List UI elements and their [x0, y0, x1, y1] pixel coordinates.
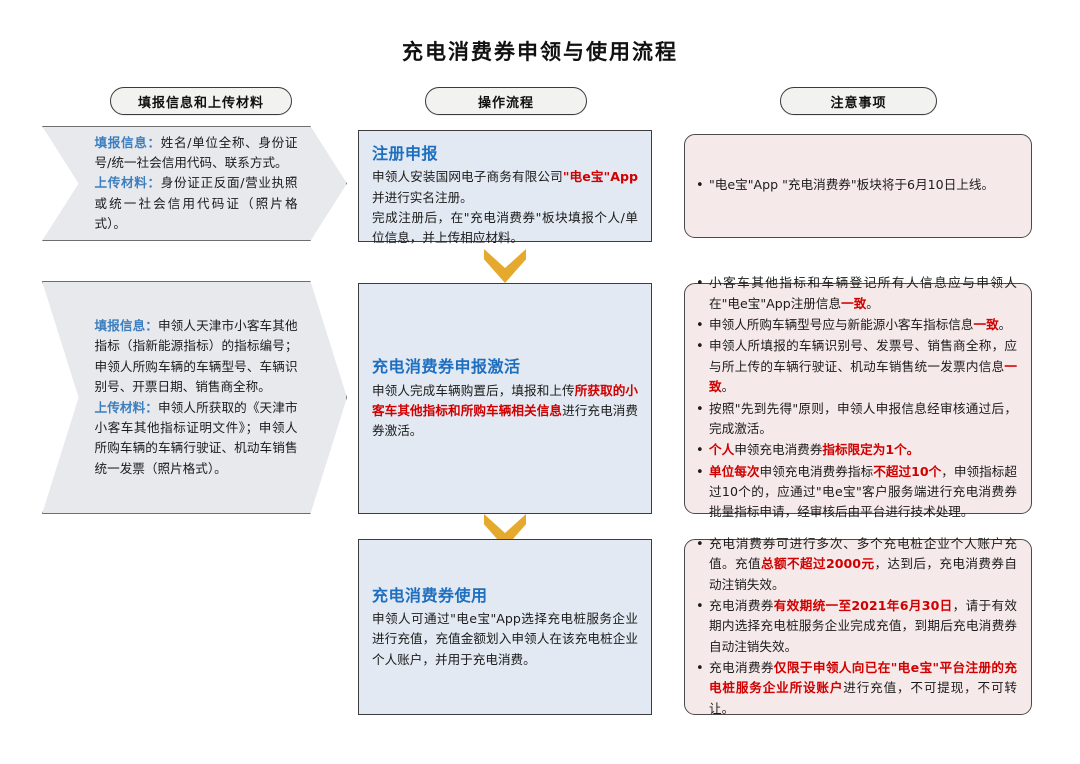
process-body-2-part-a: 申领人完成车辆购置后，填报和上传 — [372, 383, 575, 398]
note-text: 按照"先到先得"原则，申领人申报信息经审核通过后，完成激活。 — [709, 401, 1017, 436]
note-bullet: 充电消费券可进行多次、多个充电桩企业个人账户充值。充值总额不超过2000元，达到… — [695, 534, 1017, 595]
note-text: 充电消费券 — [709, 598, 774, 613]
note-highlight: 一致 — [841, 296, 866, 311]
note-highlight: 一致 — [973, 317, 998, 332]
process-box-activate: 充电消费券申报激活 申领人完成车辆购置后，填报和上传所获取的小客车其他指标和所购… — [358, 283, 652, 514]
note-highlight: 不超过10个 — [873, 464, 941, 479]
process-title-1: 注册申报 — [372, 142, 638, 165]
note-bullet: "电e宝"App "充电消费券"板块将于6月10日上线。 — [695, 175, 1017, 195]
upload-material-label-2: 上传材料： — [95, 400, 158, 415]
note-text: 。 — [866, 296, 879, 311]
column-header-right: 注意事项 — [780, 87, 937, 115]
note-box-2: 小客车其他指标和车辆登记所有人信息应与申领人在"电e宝"App注册信息一致。申领… — [684, 283, 1032, 514]
note-text: 申领人所购车辆型号应与新能源小客车指标信息 — [709, 317, 973, 332]
note-highlight: 有效期统一至2021年6月30日 — [774, 598, 953, 613]
note-text: "电e宝"App "充电消费券"板块将于6月10日上线。 — [709, 177, 994, 192]
note-text: 申领人所填报的车辆识别号、发票号、销售商全称，应与所上传的车辆行驶证、机动车销售… — [709, 338, 1017, 373]
note-bullet: 个人申领充电消费券指标限定为1个。 — [695, 440, 1017, 460]
column-header-left: 填报信息和上传材料 — [110, 87, 292, 115]
process-body-2: 申领人完成车辆购置后，填报和上传所获取的小客车其他指标和所购车辆相关信息进行充电… — [372, 381, 638, 442]
process-body-1-part-b: 并进行实名注册。 — [372, 190, 473, 205]
process-body-1-part-a: 申领人安装国网电子商务有限公司 — [372, 169, 563, 184]
left-chevron-step-1: 填报信息：姓名/单位全称、身份证号/统一社会信用代码、联系方式。 上传材料：身份… — [42, 126, 347, 241]
note-bullet: 小客车其他指标和车辆登记所有人信息应与申领人在"电e宝"App注册信息一致。 — [695, 273, 1017, 314]
note-bullet: 单位每次申领充电消费券指标不超过10个，申领指标超过10个的，应通过"电e宝"客… — [695, 462, 1017, 523]
note-list-1: "电e宝"App "充电消费券"板块将于6月10日上线。 — [695, 175, 1017, 196]
note-highlight: 总额不超过2000元 — [761, 556, 874, 571]
process-body-3: 申领人可通过"电e宝"App选择充电桩服务企业进行充值，充值金额划入申领人在该充… — [372, 609, 638, 670]
note-list-2: 小客车其他指标和车辆登记所有人信息应与申领人在"电e宝"App注册信息一致。申领… — [695, 273, 1017, 524]
process-body-1: 申领人安装国网电子商务有限公司"电e宝"App并进行实名注册。 完成注册后，在"… — [372, 167, 638, 249]
column-header-center: 操作流程 — [425, 87, 587, 115]
note-box-3: 充电消费券可进行多次、多个充电桩企业个人账户充值。充值总额不超过2000元，达到… — [684, 539, 1032, 715]
note-box-1: "电e宝"App "充电消费券"板块将于6月10日上线。 — [684, 134, 1032, 238]
process-body-1-highlight: "电e宝"App — [563, 169, 638, 184]
note-bullet: 充电消费券仅限于申领人向已在"电e宝"平台注册的充电桩服务企业所设账户进行充值，… — [695, 658, 1017, 719]
note-text: 。 — [722, 379, 735, 394]
left-chevron-step-1-text: 填报信息：姓名/单位全称、身份证号/统一社会信用代码、联系方式。 上传材料：身份… — [43, 133, 346, 235]
note-text: 申领充电消费券指标 — [760, 464, 874, 479]
note-highlight: 指标限定为1个。 — [822, 442, 919, 457]
flowchart-page: 充电消费券申领与使用流程 填报信息和上传材料 操作流程 注意事项 填报信息：姓名… — [0, 0, 1080, 764]
note-list-3: 充电消费券可进行多次、多个充电桩企业个人账户充值。充值总额不超过2000元，达到… — [695, 534, 1017, 721]
process-body-1-line2: 完成注册后，在"充电消费券"板块填报个人/单位信息，并上传相应材料。 — [372, 210, 638, 245]
note-text: 申领充电消费券 — [734, 442, 822, 457]
fill-info-label-1: 填报信息： — [95, 135, 161, 150]
note-text: 充电消费券 — [709, 660, 774, 675]
left-chevron-step-2-text: 填报信息：申领人天津市小客车其他指标（指新能源指标）的指标编号；申领人所购车辆的… — [43, 316, 346, 479]
page-title: 充电消费券申领与使用流程 — [0, 36, 1080, 66]
process-box-usage: 充电消费券使用 申领人可通过"电e宝"App选择充电桩服务企业进行充值，充值金额… — [358, 539, 652, 715]
left-chevron-step-2: 填报信息：申领人天津市小客车其他指标（指新能源指标）的指标编号；申领人所购车辆的… — [42, 281, 347, 514]
down-chevron-arrow-icon-1 — [484, 249, 526, 283]
process-title-3: 充电消费券使用 — [372, 584, 638, 607]
note-text: 。 — [999, 317, 1012, 332]
fill-info-label-2: 填报信息： — [95, 318, 158, 333]
note-highlight: 单位每次 — [709, 464, 760, 479]
note-bullet: 按照"先到先得"原则，申领人申报信息经审核通过后，完成激活。 — [695, 399, 1017, 440]
process-box-register: 注册申报 申领人安装国网电子商务有限公司"电e宝"App并进行实名注册。 完成注… — [358, 130, 652, 242]
note-highlight: 个人 — [709, 442, 734, 457]
process-title-2: 充电消费券申报激活 — [372, 355, 638, 378]
note-bullet: 充电消费券有效期统一至2021年6月30日，请于有效期内选择充电桩服务企业完成充… — [695, 596, 1017, 657]
process-body-3-part-a: 申领人可通过"电e宝"App选择充电桩服务企业进行充值，充值金额划入申领人在该充… — [372, 611, 638, 667]
note-bullet: 申领人所填报的车辆识别号、发票号、销售商全称，应与所上传的车辆行驶证、机动车销售… — [695, 336, 1017, 397]
note-bullet: 申领人所购车辆型号应与新能源小客车指标信息一致。 — [695, 315, 1017, 335]
upload-material-label-1: 上传材料： — [95, 175, 161, 190]
